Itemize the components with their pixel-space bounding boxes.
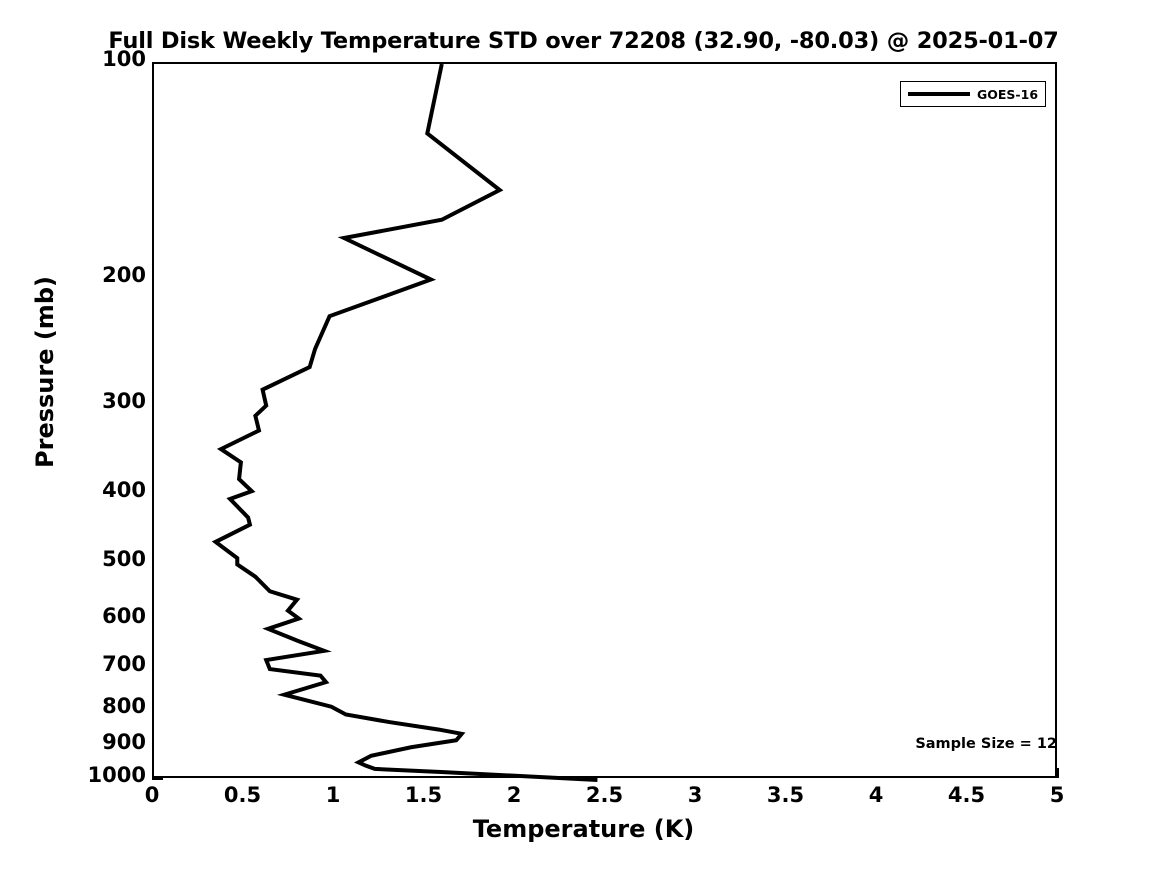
x-tick-label: 0.5 xyxy=(203,783,283,807)
legend-line-swatch xyxy=(908,92,970,96)
x-tick-text: 1.5 xyxy=(405,783,442,807)
y-tick-label: 500 xyxy=(0,547,146,571)
y-tick-label: 200 xyxy=(0,263,146,287)
x-tick-label: 4.5 xyxy=(927,783,1007,807)
chart-figure: Full Disk Weekly Temperature STD over 72… xyxy=(0,0,1167,875)
legend: GOES-16 xyxy=(900,81,1046,107)
y-tick-text: 200 xyxy=(102,263,146,287)
series-polyline xyxy=(216,64,598,780)
y-tick-text: 100 xyxy=(102,47,146,71)
plot-area xyxy=(152,62,1057,778)
y-tick-text: 600 xyxy=(102,604,146,628)
x-tick-text: 0.5 xyxy=(224,783,261,807)
sample-size-annotation: Sample Size = 12 xyxy=(915,736,1057,752)
y-tick-label: 900 xyxy=(0,730,146,754)
x-tick-label: 4 xyxy=(836,783,916,807)
y-tick-label: 100 xyxy=(0,47,146,71)
y-tick-label: 800 xyxy=(0,694,146,718)
x-tick-text: 5 xyxy=(1050,783,1065,807)
x-tick-label: 3 xyxy=(655,783,735,807)
y-tick-label: 300 xyxy=(0,389,146,413)
x-tick-text: 2 xyxy=(507,783,522,807)
y-tick-text: 500 xyxy=(102,547,146,571)
x-tick-text: 3.5 xyxy=(767,783,804,807)
y-tick-label: 700 xyxy=(0,652,146,676)
x-tick-label: 2.5 xyxy=(565,783,645,807)
x-tick-label: 2 xyxy=(474,783,554,807)
y-tick-label: 600 xyxy=(0,604,146,628)
y-tick-text: 900 xyxy=(102,730,146,754)
page-title: Full Disk Weekly Temperature STD over 72… xyxy=(0,28,1167,54)
y-tick-text: 700 xyxy=(102,652,146,676)
x-tick-text: 1 xyxy=(326,783,341,807)
series-goes16 xyxy=(154,64,1059,780)
x-tick-text: 3 xyxy=(688,783,703,807)
x-tick-label: 0 xyxy=(112,783,192,807)
y-tick-text: 800 xyxy=(102,694,146,718)
x-tick-text: 2.5 xyxy=(586,783,623,807)
x-tick-label: 1.5 xyxy=(384,783,464,807)
x-tick-label: 1 xyxy=(293,783,373,807)
x-tick-label: 3.5 xyxy=(746,783,826,807)
x-axis-label: Temperature (K) xyxy=(0,815,1167,843)
x-tick-text: 4 xyxy=(869,783,884,807)
x-tick-text: 0 xyxy=(145,783,160,807)
y-tick-text: 300 xyxy=(102,389,146,413)
legend-label: GOES-16 xyxy=(977,87,1038,102)
x-tick-label: 5 xyxy=(1017,783,1097,807)
y-tick-text: 400 xyxy=(102,478,146,502)
y-tick-label: 400 xyxy=(0,478,146,502)
x-tick-text: 4.5 xyxy=(948,783,985,807)
